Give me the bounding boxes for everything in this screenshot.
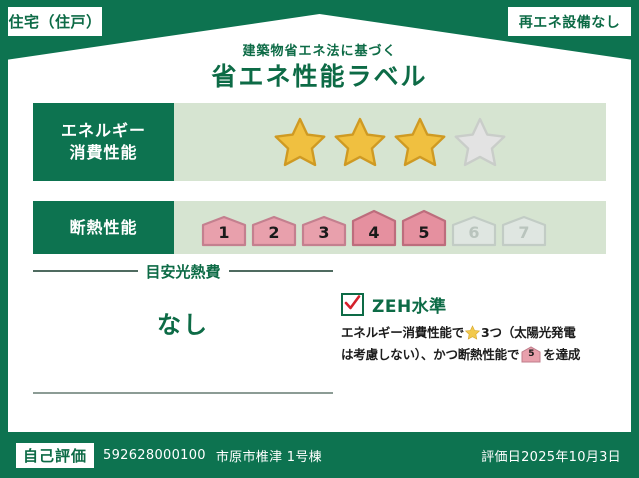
rule-left	[33, 270, 138, 272]
footer-bar: 自己評価 592628000100 市原市椎津 1号棟 評価日2025年10月3…	[0, 432, 639, 478]
insulation-level-number: 6	[450, 223, 498, 242]
zeh-block: ZEH水準 エネルギー消費性能で 3つ（太陽光発電 は考慮しない）、かつ断熱性能…	[341, 292, 609, 365]
insulation-level-number: 4	[350, 223, 398, 242]
star-icon-filled	[333, 116, 387, 168]
insulation-level-scale: 1234567	[200, 209, 548, 247]
insulation-level-6: 6	[450, 215, 498, 247]
row-insulation-label-text: 断熱性能	[69, 217, 137, 239]
star-icon-filled	[393, 116, 447, 168]
footer-id: 592628000100	[103, 448, 206, 463]
row-energy-value	[174, 103, 606, 181]
utility-cost-heading-text: 目安光熱費	[146, 261, 221, 282]
insulation-level-1: 1	[200, 215, 248, 247]
check-icon	[344, 295, 361, 312]
star-icon-filled	[273, 116, 327, 168]
row-energy-label-line1: エネルギー	[61, 120, 146, 142]
insulation-badge-inline: 5	[521, 346, 541, 363]
insulation-level-7: 7	[500, 215, 548, 247]
zeh-checkbox[interactable]	[341, 293, 364, 316]
utility-cost-value: なし	[33, 305, 333, 340]
zeh-desc-part2: は考慮しない）、かつ断熱性能で	[341, 347, 519, 362]
insulation-level-4: 4	[350, 209, 398, 247]
insulation-level-number: 3	[300, 223, 348, 242]
star-rating	[273, 116, 507, 168]
row-insulation-label: 断熱性能	[33, 201, 174, 254]
zeh-description: エネルギー消費性能で 3つ（太陽光発電 は考慮しない）、かつ断熱性能で 5 を達…	[341, 323, 609, 365]
footer-address: 市原市椎津 1号棟	[216, 446, 322, 465]
zeh-title: ZEH水準	[372, 292, 447, 317]
zeh-desc-part3: を達成	[543, 347, 580, 362]
star-icon	[465, 325, 480, 340]
zeh-heading: ZEH水準	[341, 292, 609, 317]
footer-evaluation-date: 評価日2025年10月3日	[481, 446, 621, 465]
row-energy-label-line2: 消費性能	[69, 142, 137, 164]
badge-renewable-equipment: 再エネ設備なし	[508, 7, 631, 36]
page-title: 省エネ性能ラベル	[0, 57, 639, 93]
insulation-level-5: 5	[400, 209, 448, 247]
zeh-desc-stars: 3つ（太陽光発電	[481, 325, 576, 340]
zeh-desc-part1: エネルギー消費性能で	[341, 325, 464, 340]
row-insulation-value: 1234567	[174, 201, 606, 254]
insulation-level-number: 5	[400, 223, 448, 242]
insulation-level-number: 1	[200, 223, 248, 242]
row-insulation-performance: 断熱性能 1234567	[33, 201, 606, 254]
utility-cost-heading: 目安光熱費	[33, 262, 333, 280]
badge-building-type: 住宅（住戸）	[8, 7, 102, 36]
insulation-level-number: 7	[500, 223, 548, 242]
star-icon-empty	[453, 116, 507, 168]
row-energy-performance: エネルギー 消費性能	[33, 103, 606, 181]
footer-evaluation-type: 自己評価	[16, 443, 94, 468]
insulation-level-3: 3	[300, 215, 348, 247]
row-energy-label: エネルギー 消費性能	[33, 103, 174, 181]
utility-cost-divider	[33, 392, 333, 394]
insulation-level-2: 2	[250, 215, 298, 247]
rule-right	[229, 270, 334, 272]
star-icon-inline	[465, 325, 480, 345]
insulation-badge-inline-number: 5	[521, 348, 541, 362]
insulation-level-number: 2	[250, 223, 298, 242]
energy-label-card: 住宅（住戸） 再エネ設備なし 建築物省エネ法に基づく 省エネ性能ラベル エネルギ…	[0, 0, 639, 478]
